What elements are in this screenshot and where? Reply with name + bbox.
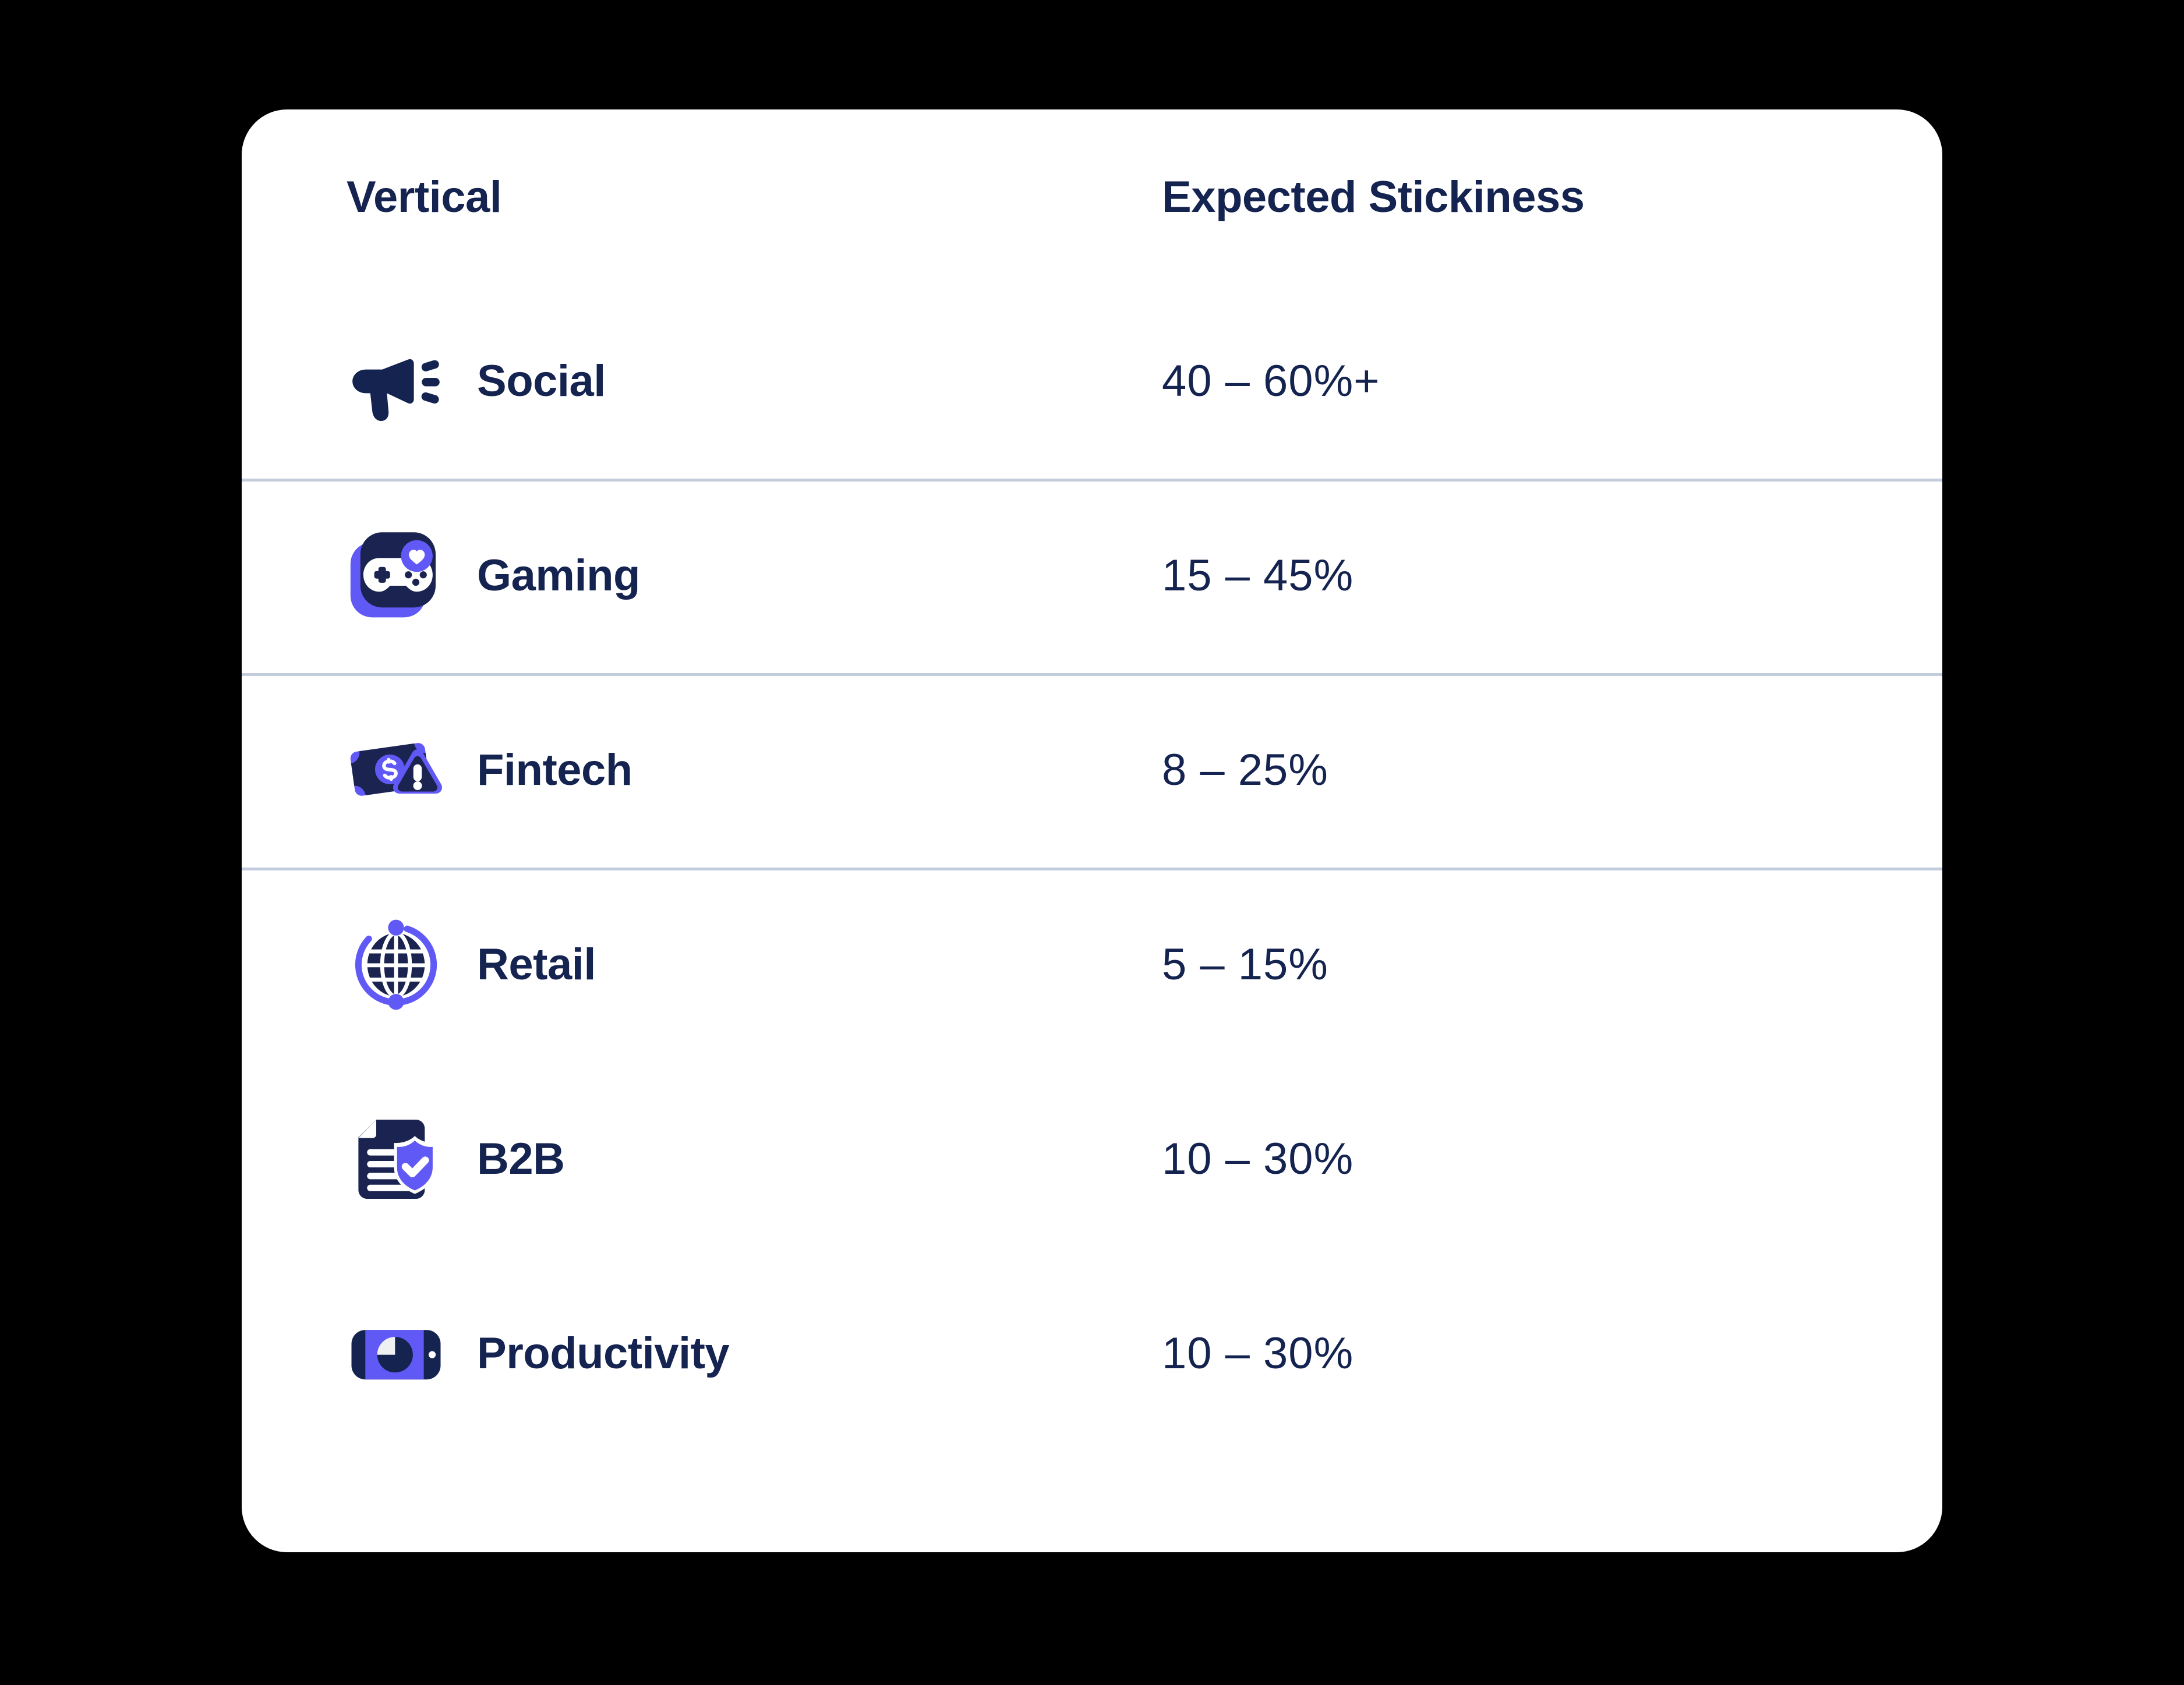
cell-vertical: Social <box>347 284 606 479</box>
cell-vertical: Gaming <box>347 479 640 673</box>
cell-vertical: Retail <box>347 868 596 1062</box>
row-label: Retail <box>477 943 596 987</box>
table-row: Productivity 10 – 30% <box>242 1256 1942 1451</box>
globe-icon <box>347 915 446 1014</box>
cell-expected-stickiness: 8 – 25% <box>1162 673 1328 868</box>
gamepad-icon <box>347 526 446 625</box>
row-label: Fintech <box>477 748 632 792</box>
row-label: Social <box>477 359 606 403</box>
cell-expected-stickiness: 40 – 60%+ <box>1162 284 1380 479</box>
column-header-vertical: Vertical <box>347 109 501 284</box>
table-row: Gaming 15 – 45% <box>242 479 1942 673</box>
column-header-expected-stickiness: Expected Stickiness <box>1162 109 1585 284</box>
cell-expected-stickiness: 5 – 15% <box>1162 868 1328 1062</box>
cell-vertical: Fintech <box>347 673 632 868</box>
document-shield-icon <box>347 1110 446 1209</box>
banknote-alert-icon <box>347 721 446 820</box>
stickiness-table-card: Vertical Expected Stickiness Social <box>242 109 1942 1552</box>
cell-expected-stickiness: 10 – 30% <box>1162 1062 1353 1256</box>
row-label: Productivity <box>477 1332 729 1376</box>
table-header-row: Vertical Expected Stickiness <box>242 109 1942 284</box>
table-row: B2B 10 – 30% <box>242 1062 1942 1256</box>
stickiness-table: Vertical Expected Stickiness Social <box>242 109 1942 1552</box>
row-label: B2B <box>477 1137 565 1181</box>
table-row: Fintech 8 – 25% <box>242 673 1942 868</box>
megaphone-icon <box>347 332 446 431</box>
cell-vertical: Productivity <box>347 1256 729 1451</box>
table-row: Retail 5 – 15% <box>242 868 1942 1062</box>
cell-expected-stickiness: 10 – 30% <box>1162 1256 1353 1451</box>
row-label: Gaming <box>477 554 640 598</box>
page-root: Vertical Expected Stickiness Social <box>0 0 2184 1685</box>
tablet-chart-icon <box>347 1304 446 1403</box>
cell-vertical: B2B <box>347 1062 565 1256</box>
cell-expected-stickiness: 15 – 45% <box>1162 479 1353 673</box>
table-row: Social 40 – 60%+ <box>242 284 1942 479</box>
